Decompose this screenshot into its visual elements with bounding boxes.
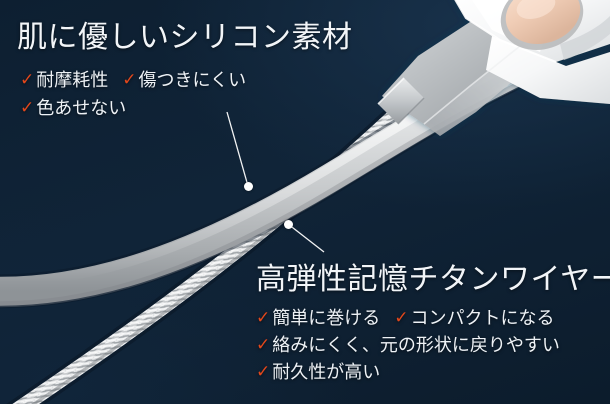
bullet-wire-1: ✓ 簡単に巻ける — [256, 306, 380, 331]
check-icon: ✓ — [394, 306, 408, 330]
bullet-label: 色あせない — [36, 96, 126, 120]
promo-banner: 肌に優しいシリコン素材 ✓ 耐摩耗性 ✓ 傷つきにくい ✓ 色あせない 高弾性記… — [0, 0, 610, 404]
bullet-wire-3: ✓ 絡みにくく、元の形状に戻りやすい — [256, 333, 560, 358]
bullet-silicone-2: ✓ 傷つきにくい — [122, 68, 246, 93]
leader-line-silicone — [227, 112, 248, 186]
check-icon: ✓ — [20, 68, 34, 92]
bullet-label: 耐摩耗性 — [36, 68, 108, 92]
callout-dot-silicone — [244, 182, 253, 191]
bullet-row-wire-3: ✓ 耐久性が高い — [256, 360, 380, 385]
bullet-silicone-3: ✓ 色あせない — [20, 96, 126, 121]
bullet-wire-4: ✓ 耐久性が高い — [256, 360, 380, 385]
check-icon: ✓ — [256, 306, 270, 330]
bullet-label: 絡みにくく、元の形状に戻りやすい — [272, 333, 560, 357]
check-icon: ✓ — [122, 68, 136, 92]
bullet-label: 傷つきにくい — [139, 68, 247, 92]
bullet-row-silicone-1: ✓ 耐摩耗性 ✓ 傷つきにくい — [20, 68, 246, 93]
bullet-row-wire-2: ✓ 絡みにくく、元の形状に戻りやすい — [256, 333, 560, 358]
bullet-label: 耐久性が高い — [272, 360, 380, 384]
leader-line-wire — [288, 224, 324, 252]
bullet-label: コンパクトになる — [411, 306, 555, 330]
headline-wire: 高弾性記憶チタンワイヤー — [256, 262, 610, 298]
bullet-wire-2: ✓ コンパクトになる — [394, 306, 554, 331]
headline-silicone: 肌に優しいシリコン素材 — [17, 20, 353, 56]
bullet-label: 簡単に巻ける — [272, 306, 380, 330]
check-icon: ✓ — [256, 333, 270, 357]
check-icon: ✓ — [20, 96, 34, 120]
bullet-row-wire-1: ✓ 簡単に巻ける ✓ コンパクトになる — [256, 306, 555, 331]
bullet-silicone-1: ✓ 耐摩耗性 — [20, 68, 108, 93]
callout-dot-wire — [284, 220, 293, 229]
check-icon: ✓ — [256, 360, 270, 384]
bullet-row-silicone-2: ✓ 色あせない — [20, 96, 126, 121]
styling-iron-head — [382, 0, 610, 136]
